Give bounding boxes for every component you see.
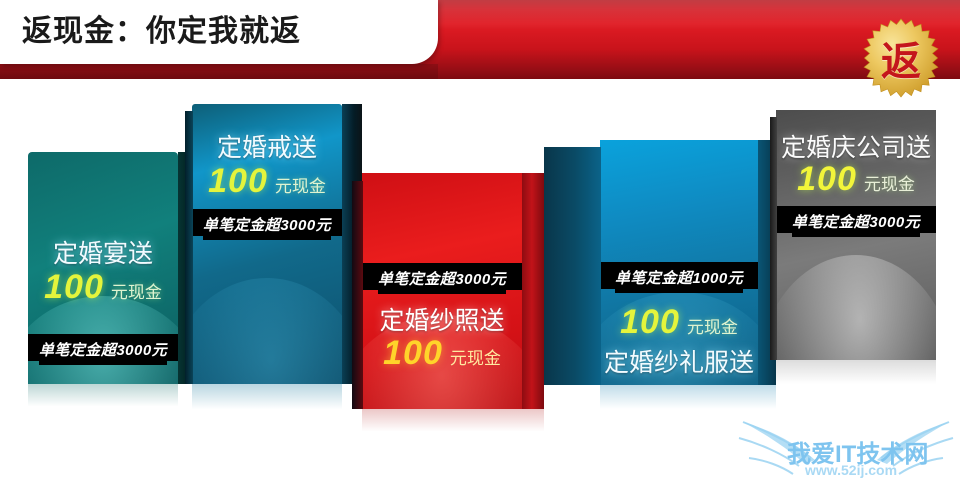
panel-note: 单笔定金超3000元 [39, 334, 167, 365]
panel-bevel-left [352, 181, 363, 409]
panel-note-band: 单笔定金超3000元 [362, 263, 522, 290]
panel-amount-row: 100元现金 [362, 334, 522, 373]
panel-side-face [522, 173, 544, 409]
watermark-url: www.52ij.com [787, 462, 915, 478]
watermark: 我爱IT技术网 www.52ij.com [735, 414, 957, 494]
panel-wedding-photo[interactable]: 单笔定金超3000元 定婚纱照送 100元现金 [362, 173, 522, 409]
panel-title: 定婚庆公司送 [776, 128, 936, 164]
panel-gloss [192, 278, 342, 384]
panel-note-band: 单笔定金超3000元 [776, 206, 936, 233]
panel-amount-unit: 元现金 [450, 349, 501, 368]
panel-amount-unit: 元现金 [275, 177, 326, 196]
panel-note-band: 单笔定金超1000元 [600, 262, 758, 289]
panel-reflection [776, 360, 936, 392]
panel-amount-unit: 元现金 [687, 318, 738, 337]
page-title: 返现金：你定我就返 [22, 12, 301, 52]
panel-amount-row: 100元现金 [28, 268, 178, 307]
panel-gloss [776, 255, 936, 360]
panel-note-band: 单笔定金超3000元 [28, 334, 178, 361]
panel-note: 单笔定金超1000元 [615, 262, 743, 293]
panel-amount-unit: 元现金 [111, 283, 162, 302]
panel-bevel-left [185, 111, 193, 384]
panel-note-band: 单笔定金超3000元 [192, 209, 342, 236]
panel-title: 定婚纱照送 [362, 301, 522, 337]
panel-wedding-company[interactable]: 定婚庆公司送 100元现金 单笔定金超3000元 [776, 110, 936, 360]
panel-amount: 100 [797, 160, 857, 198]
panel-amount-row: 100元现金 [776, 160, 936, 199]
panel-note: 单笔定金超3000元 [792, 206, 920, 237]
panel-amount-unit: 元现金 [864, 175, 915, 194]
slide-canvas: 返现金：你定我就返 返 定婚宴送 100元现金 [0, 0, 960, 499]
panel-bevel-left [544, 147, 601, 385]
panel-wedding-banquet[interactable]: 定婚宴送 100元现金 单笔定金超3000元 [28, 152, 178, 384]
panel-reflection [362, 409, 544, 439]
panel-amount: 100 [383, 334, 443, 372]
panel-amount-row: 100元现金 [600, 303, 758, 342]
header-underline [0, 64, 438, 79]
panel-title: 定婚戒送 [192, 128, 342, 164]
panel-amount: 100 [44, 268, 104, 306]
panel-title: 定婚宴送 [28, 234, 178, 270]
panel-note: 单笔定金超3000元 [378, 263, 506, 294]
panel-amount: 100 [620, 303, 680, 341]
panel-reflection [600, 385, 776, 417]
panel-amount: 100 [208, 162, 268, 200]
panel-wedding-ring[interactable]: 定婚戒送 100元现金 单笔定金超3000元 [192, 104, 342, 384]
panel-reflection [28, 384, 178, 414]
panel-amount-row: 100元现金 [192, 162, 342, 201]
panel-note: 单笔定金超3000元 [203, 209, 331, 240]
panel-reflection [192, 384, 342, 418]
panel-title: 定婚纱礼服送 [600, 343, 758, 379]
panel-bevel-left [770, 117, 777, 360]
panel-wedding-dress[interactable]: 单笔定金超1000元 100元现金 定婚纱礼服送 [600, 140, 758, 385]
